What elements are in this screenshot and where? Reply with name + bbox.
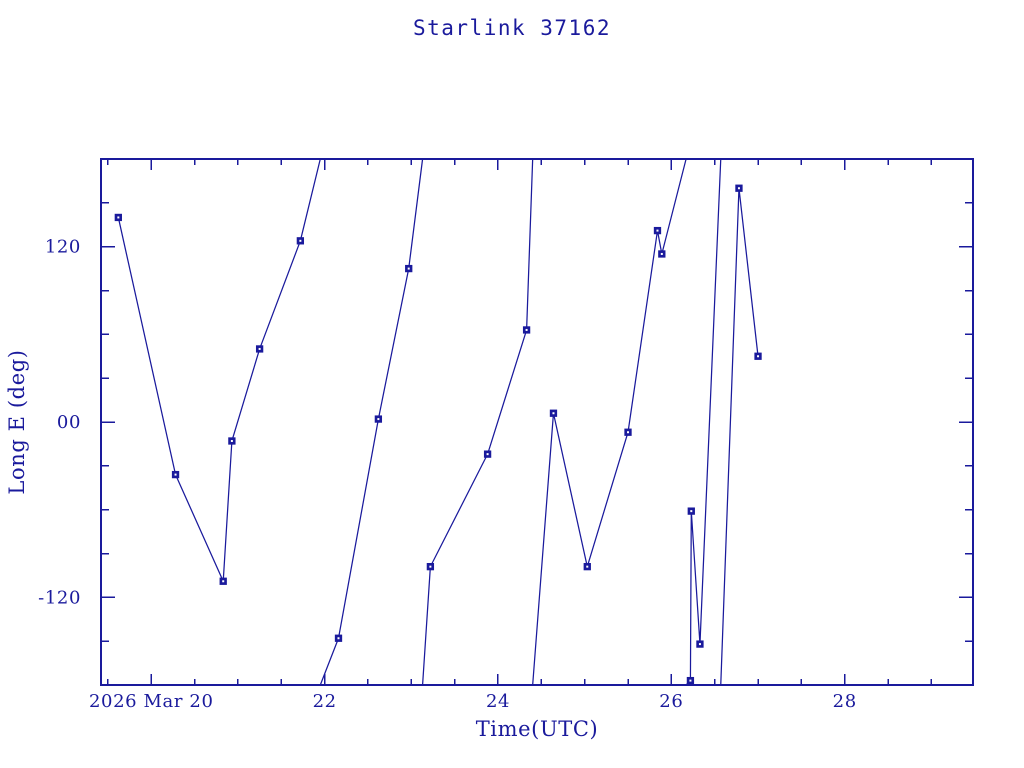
data-line-segment bbox=[118, 159, 320, 581]
x-tick-label: 24 bbox=[486, 691, 510, 712]
y-tick-label: 00 bbox=[57, 412, 81, 433]
data-point-marker bbox=[115, 214, 121, 220]
data-point-marker bbox=[688, 508, 694, 514]
data-point-marker bbox=[550, 410, 556, 416]
data-point-marker bbox=[584, 563, 590, 569]
data-point-marker bbox=[654, 227, 660, 233]
data-point-marker bbox=[697, 641, 703, 647]
data-point-marker bbox=[172, 471, 178, 477]
data-point-marker bbox=[229, 438, 235, 444]
x-axis-tick-labels: 2026 Mar 2022242628 bbox=[89, 691, 857, 712]
x-tick-label: 2026 Mar 20 bbox=[89, 691, 214, 712]
y-axis-minor-ticks bbox=[101, 203, 973, 641]
data-point-marker bbox=[297, 238, 303, 244]
y-axis-title: Long E (deg) bbox=[5, 349, 29, 494]
data-line-segment bbox=[320, 159, 422, 685]
y-tick-label: 120 bbox=[45, 237, 81, 258]
data-point-marker bbox=[523, 327, 529, 333]
plot-frame bbox=[101, 159, 973, 685]
data-point-marker bbox=[256, 346, 262, 352]
data-series-lines bbox=[118, 159, 758, 685]
data-point-marker bbox=[755, 353, 761, 359]
plot-window: Starlink 37162 2026 Mar 2022242628 12000… bbox=[0, 0, 1024, 768]
x-tick-label: 26 bbox=[659, 691, 683, 712]
data-line-segment bbox=[686, 159, 721, 685]
data-line-segment bbox=[721, 188, 758, 685]
data-point-marker bbox=[484, 451, 490, 457]
x-tick-label: 28 bbox=[833, 691, 857, 712]
data-series-markers bbox=[115, 185, 761, 684]
x-axis-title: Time(UTC) bbox=[476, 717, 599, 741]
data-point-marker bbox=[406, 265, 412, 271]
y-axis-major-ticks bbox=[101, 247, 973, 598]
y-tick-label: -120 bbox=[38, 587, 81, 608]
x-axis-minor-ticks bbox=[108, 159, 931, 685]
data-point-marker bbox=[687, 677, 693, 683]
data-point-marker bbox=[335, 635, 341, 641]
x-tick-label: 22 bbox=[313, 691, 337, 712]
y-axis-tick-labels: 12000-120 bbox=[38, 237, 81, 609]
longitude-drift-chart: 2026 Mar 2022242628 12000-120 Time(UTC) … bbox=[0, 0, 1024, 768]
data-line-segment bbox=[533, 159, 686, 685]
data-point-marker bbox=[220, 578, 226, 584]
data-point-marker bbox=[625, 429, 631, 435]
data-line-segment bbox=[423, 159, 533, 685]
data-point-marker bbox=[736, 185, 742, 191]
data-point-marker bbox=[375, 416, 381, 422]
data-point-marker bbox=[659, 251, 665, 257]
data-point-marker bbox=[427, 563, 433, 569]
